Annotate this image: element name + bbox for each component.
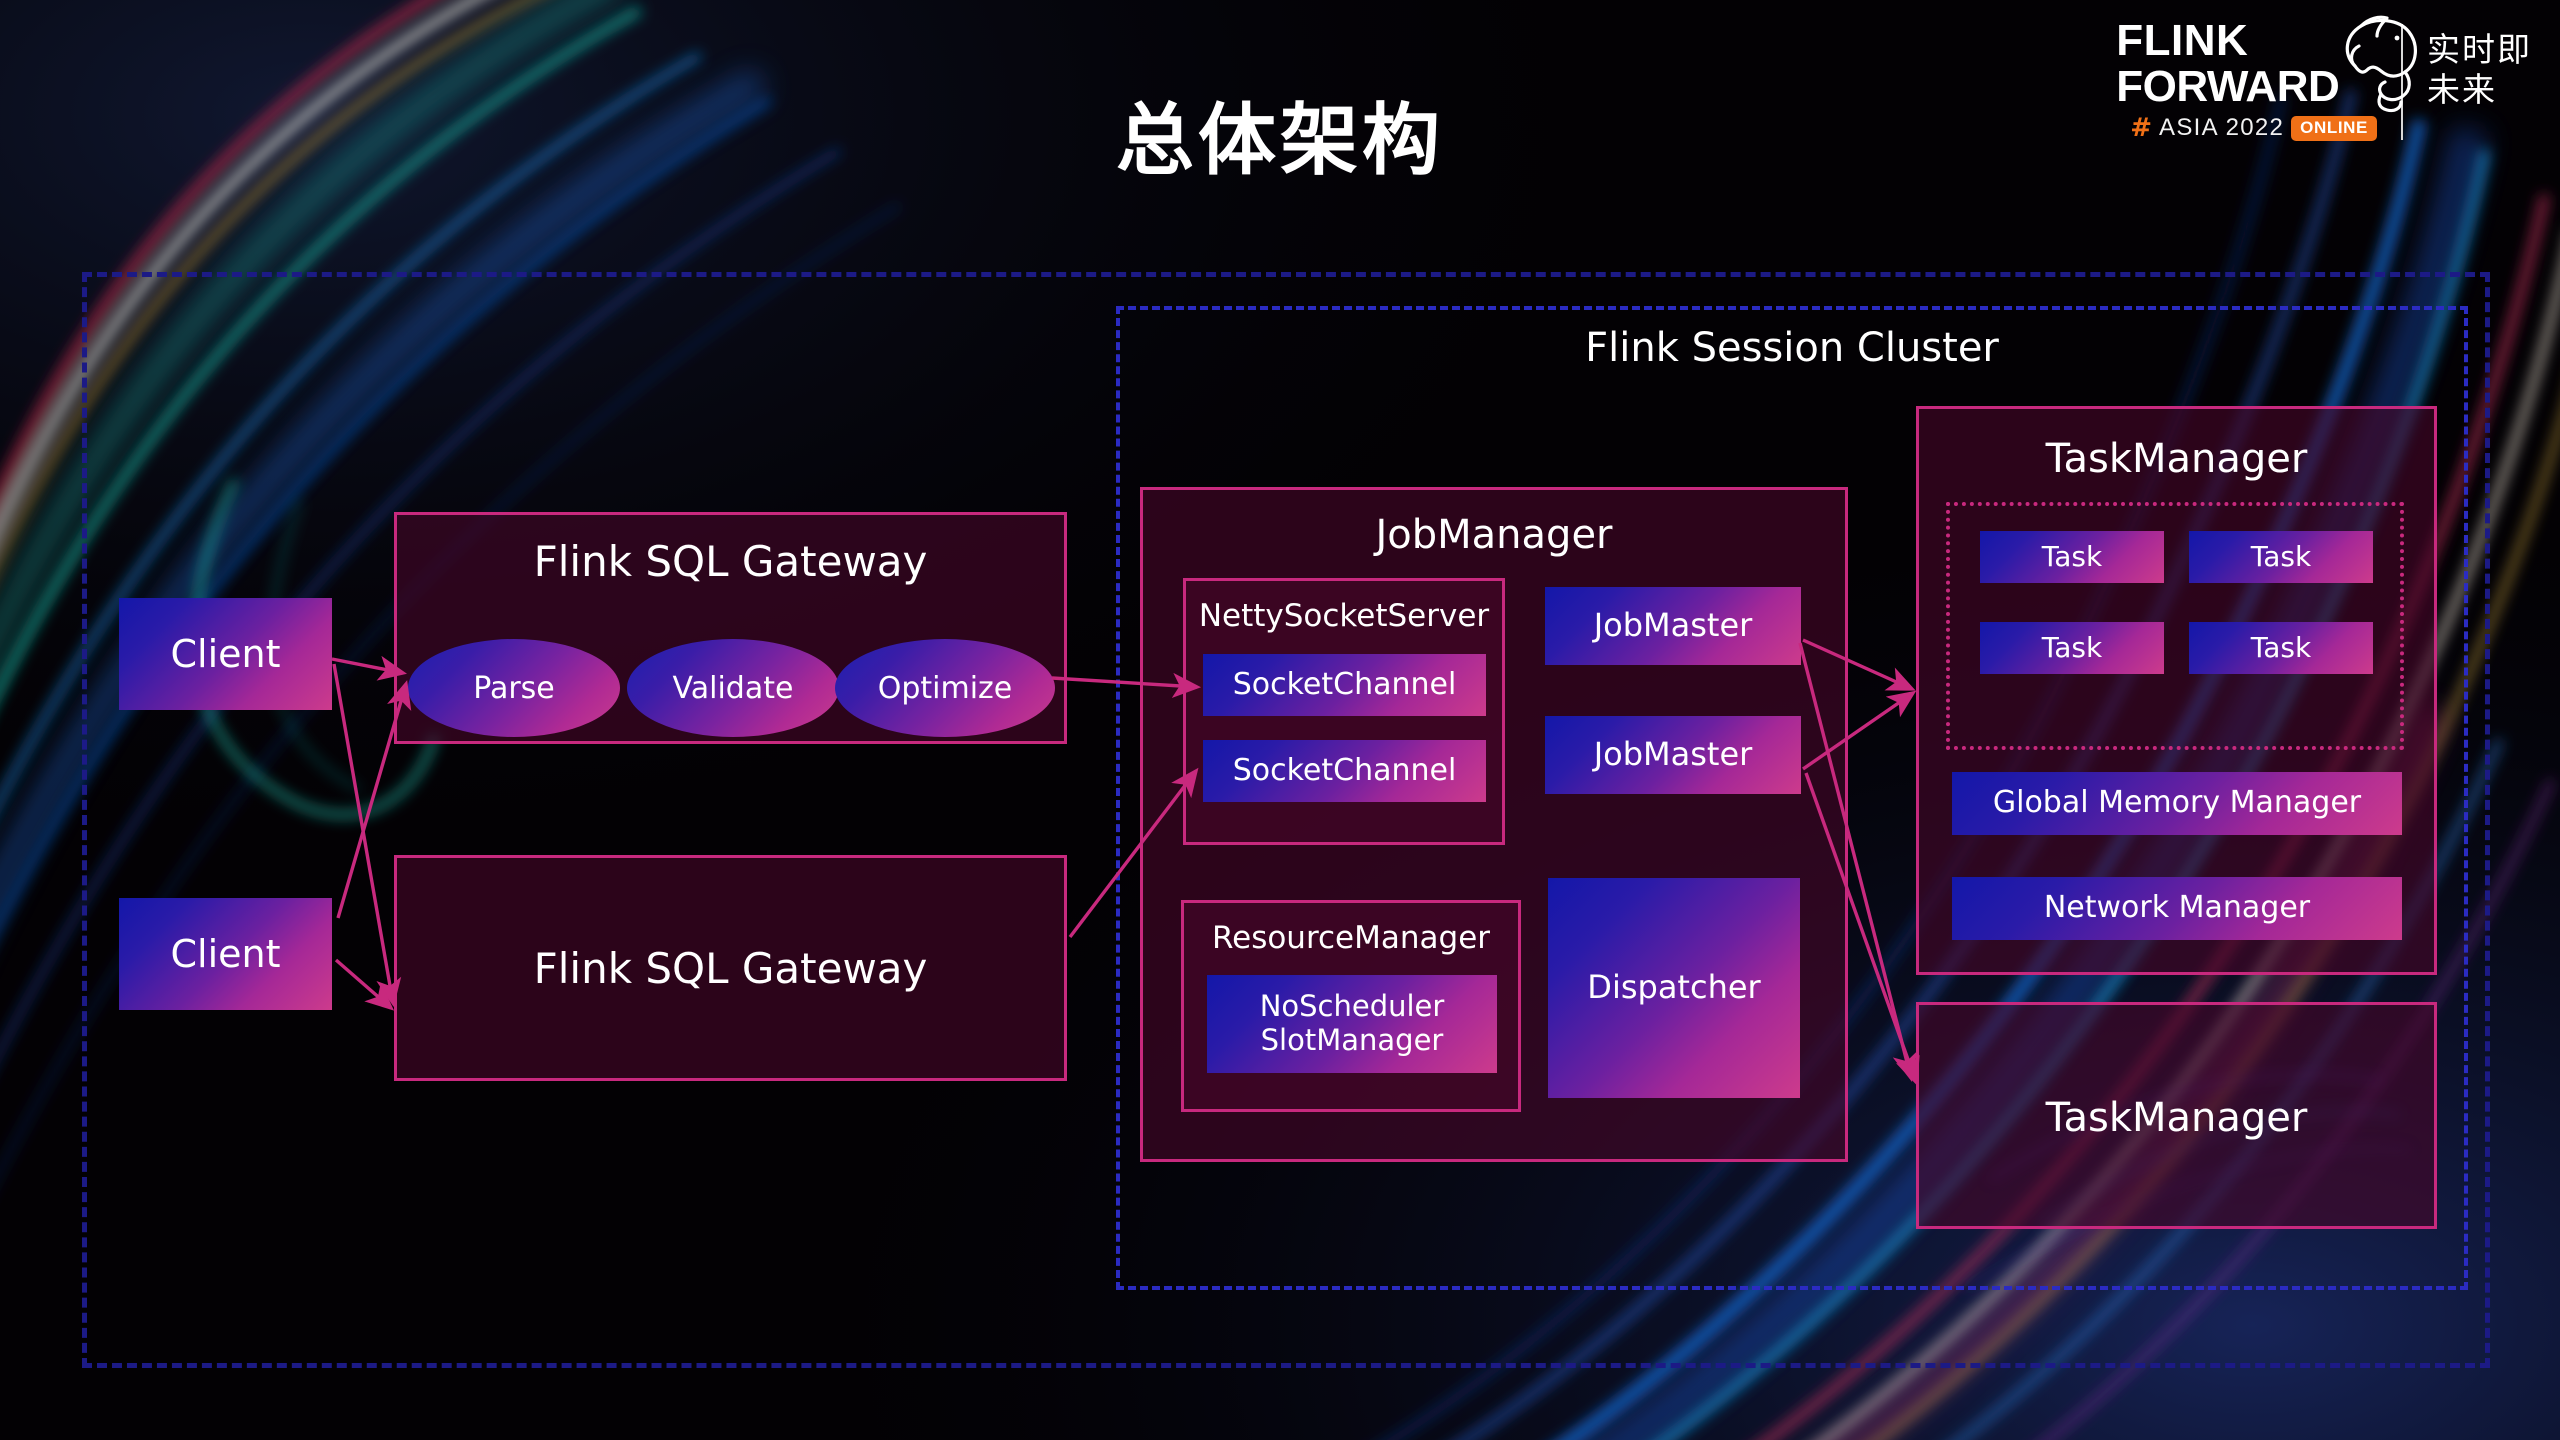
slide-canvas: 总体架构 FLINK FORWARD # ASIA 2022 ONLINE [0,0,2560,1440]
socket-channel-node-1-label: SocketChannel [1233,668,1457,703]
task-node-4-label: Task [2251,632,2311,664]
online-badge: ONLINE [2291,116,2377,141]
flink-squirrel-icon [2321,14,2433,114]
noscheduler-slotmanager-node[interactable]: NoScheduler SlotManager [1207,975,1497,1073]
task-node-1[interactable]: Task [1980,531,2164,583]
network-manager-node[interactable]: Network Manager [1952,877,2402,940]
resource-manager-title: ResourceManager [1184,920,1518,956]
dispatcher-node[interactable]: Dispatcher [1548,878,1800,1098]
flink-sql-gateway-2-title: Flink SQL Gateway [397,944,1064,993]
gateway-stage-validate-label: Validate [673,671,794,706]
taskmanager-2-title: TaskManager [1919,1095,2434,1141]
gateway-stage-validate[interactable]: Validate [627,639,839,737]
task-node-2-label: Task [2251,541,2311,573]
task-node-4[interactable]: Task [2189,622,2373,674]
jobmaster-node-1[interactable]: JobMaster [1545,587,1801,665]
client-node-2[interactable]: Client [119,898,332,1010]
flink-sql-gateway-1-title: Flink SQL Gateway [397,537,1064,586]
logo-event-name: ASIA 2022 [2159,114,2284,142]
gateway-stage-optimize-label: Optimize [878,671,1013,706]
task-node-2[interactable]: Task [2189,531,2373,583]
client-node-1-label: Client [170,632,280,676]
logo-wordmark: FLINK FORWARD # ASIA 2022 ONLINE [2116,18,2377,142]
flink-session-cluster-label: Flink Session Cluster [1116,325,2468,371]
client-node-1[interactable]: Client [119,598,332,710]
gateway-stage-parse[interactable]: Parse [408,639,620,737]
flink-sql-gateway-panel-2: Flink SQL Gateway [394,855,1067,1081]
client-node-2-label: Client [170,932,280,976]
dispatcher-node-label: Dispatcher [1587,969,1760,1006]
jobmaster-node-2[interactable]: JobMaster [1545,716,1801,794]
task-node-3[interactable]: Task [1980,622,2164,674]
socket-channel-node-2[interactable]: SocketChannel [1203,740,1486,802]
jobmanager-title: JobManager [1143,512,1845,558]
task-node-3-label: Task [2042,632,2102,664]
jobmaster-node-1-label: JobMaster [1594,607,1753,644]
flink-forward-logo: FLINK FORWARD # ASIA 2022 ONLINE 实时即 [2116,18,2532,142]
hash-icon: # [2130,115,2152,141]
gateway-stage-optimize[interactable]: Optimize [835,639,1055,737]
global-memory-manager-label: Global Memory Manager [1993,786,2361,821]
jobmaster-node-2-label: JobMaster [1594,736,1753,773]
socket-channel-node-2-label: SocketChannel [1233,754,1457,789]
gateway-stage-parse-label: Parse [473,671,555,706]
global-memory-manager-node[interactable]: Global Memory Manager [1952,772,2402,835]
noscheduler-slotmanager-label: NoScheduler SlotManager [1260,990,1445,1057]
taskmanager-1-title: TaskManager [1919,436,2434,482]
task-node-1-label: Task [2042,541,2102,573]
logo-tagline-line2: 未来 [2427,70,2532,110]
netty-socket-server-title: NettySocketServer [1186,598,1502,634]
logo-subline: # ASIA 2022 ONLINE [2116,114,2377,142]
socket-channel-node-1[interactable]: SocketChannel [1203,654,1486,716]
logo-tagline-line1: 实时即 [2427,30,2532,70]
taskmanager-panel-2: TaskManager [1916,1002,2437,1229]
network-manager-label: Network Manager [2044,891,2310,926]
logo-tagline: 实时即 未来 [2427,18,2532,110]
